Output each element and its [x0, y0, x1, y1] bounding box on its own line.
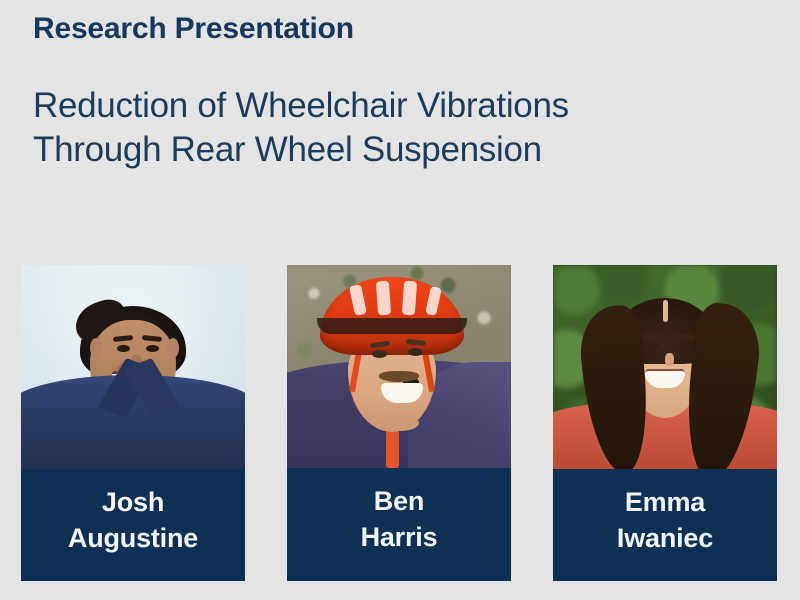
nose-shape: [665, 353, 674, 366]
team-card-row: Josh Augustine: [21, 265, 779, 581]
smile-shape: [381, 383, 423, 403]
hair-part-shape: [663, 300, 668, 322]
eye-left-shape: [117, 345, 130, 352]
presentation-slide: Research Presentation Reduction of Wheel…: [0, 0, 800, 600]
slide-header: Research Presentation Reduction of Wheel…: [33, 10, 753, 173]
nameplate-emma-iwaniec: Emma Iwaniec: [553, 469, 777, 581]
nameplate-ben-harris: Ben Harris: [287, 468, 511, 581]
helmet-brim-shape: [317, 318, 467, 334]
team-card-emma-iwaniec[interactable]: Emma Iwaniec: [553, 265, 777, 581]
helmet-vent-shape: [375, 281, 390, 316]
ear-right-shape: [167, 338, 179, 358]
headshot-josh-augustine: [21, 265, 245, 469]
nameplate-josh-augustine: Josh Augustine: [21, 469, 245, 581]
eye-right-shape: [681, 343, 694, 350]
team-card-josh-augustine[interactable]: Josh Augustine: [21, 265, 245, 581]
eye-right-shape: [146, 345, 159, 352]
moustache-shape: [379, 371, 419, 382]
headshot-emma-iwaniec: [553, 265, 777, 469]
team-card-ben-harris[interactable]: Ben Harris: [287, 265, 511, 581]
page-title: Reduction of Wheelchair Vibrations Throu…: [33, 84, 753, 174]
eye-left-shape: [647, 343, 660, 350]
slide-eyebrow: Research Presentation: [33, 10, 753, 48]
headshot-ben-harris: [287, 265, 511, 468]
